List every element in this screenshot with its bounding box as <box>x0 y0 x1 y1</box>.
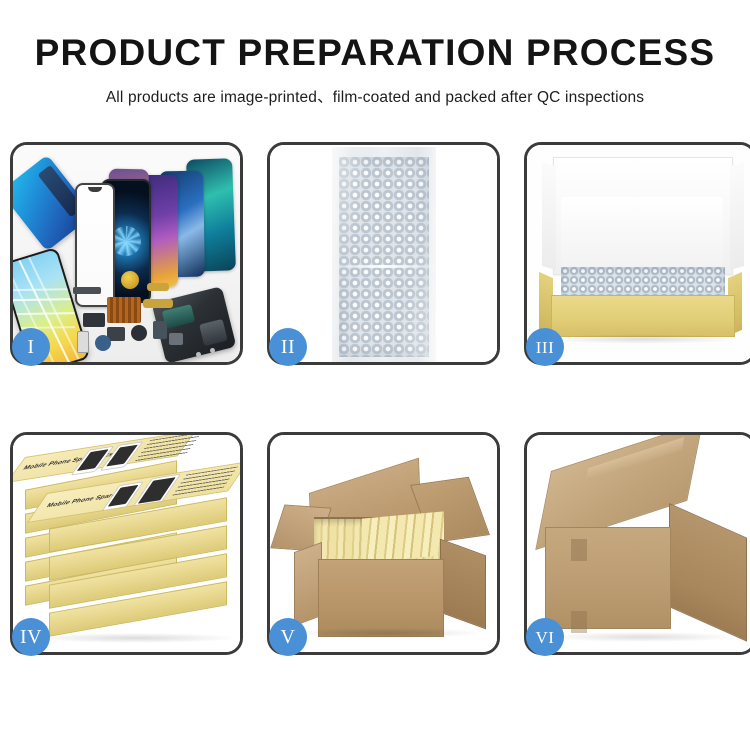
bubble-wrap-sheen <box>332 147 436 362</box>
step-panel-4[interactable]: Mobile Phone Spare Parts Mobile Phone Sp… <box>10 432 243 655</box>
step-badge-1: I <box>12 328 50 366</box>
spare-parts-cluster <box>73 269 191 359</box>
carton-shadow <box>294 628 480 638</box>
retail-box-stack-shadow <box>37 633 235 643</box>
step-panel-2[interactable]: II <box>267 142 500 365</box>
carton-flap-tab-lower <box>571 611 587 633</box>
step-5-image <box>270 435 497 652</box>
part-bracket <box>83 313 105 327</box>
step-panel-1[interactable]: I <box>10 142 243 365</box>
step-badge-3: III <box>526 328 564 366</box>
part-flex-cable-2 <box>143 299 173 308</box>
step-2-image <box>270 145 497 362</box>
part-connector <box>73 287 101 294</box>
step-1-image <box>13 145 240 362</box>
carton-front-wall <box>318 559 444 637</box>
part-battery-connector <box>153 321 167 339</box>
step-badge-4: IV <box>12 618 50 656</box>
part-sim-tray <box>77 331 89 353</box>
step-6-image <box>527 435 750 652</box>
sealed-carton-shadow <box>549 632 735 642</box>
step-4-image: Mobile Phone Spare Parts Mobile Phone Sp… <box>13 435 240 652</box>
page-subtitle: All products are image-printed、film-coat… <box>0 85 750 107</box>
part-shield-can <box>169 333 183 345</box>
process-steps-grid: I II III <box>10 142 740 655</box>
bubble-wrap-sleeve <box>332 147 436 362</box>
inner-box-front-wall <box>551 295 735 337</box>
part-copper-mesh <box>107 297 141 323</box>
step-3-image <box>527 145 750 362</box>
screws <box>196 348 224 360</box>
foam-sheet <box>561 197 723 269</box>
inner-box-shadow <box>545 334 741 344</box>
step-panel-3[interactable]: III <box>524 142 750 365</box>
step-panel-6[interactable]: VI <box>524 432 750 655</box>
part-camera-lens <box>131 325 147 341</box>
step-badge-5: V <box>269 618 307 656</box>
part-flex-cable-1 <box>147 283 169 291</box>
retail-box-stack: Mobile Phone Spare Parts Mobile Phone Sp… <box>21 453 239 649</box>
page-header: PRODUCT PREPARATION PROCESS All products… <box>0 0 750 107</box>
sealed-carton-front-face <box>545 527 671 629</box>
step-panel-5[interactable]: V <box>267 432 500 655</box>
carton-flap-tab-upper <box>571 539 587 561</box>
step-badge-2: II <box>269 328 307 366</box>
carton-contents-row-2 <box>362 511 444 562</box>
step-badge-6: VI <box>526 618 564 656</box>
part-vibrator-motor <box>95 335 111 351</box>
front-lid-spec-lines <box>172 466 238 496</box>
page-title: PRODUCT PREPARATION PROCESS <box>0 34 750 73</box>
part-gold-coil <box>121 271 139 289</box>
